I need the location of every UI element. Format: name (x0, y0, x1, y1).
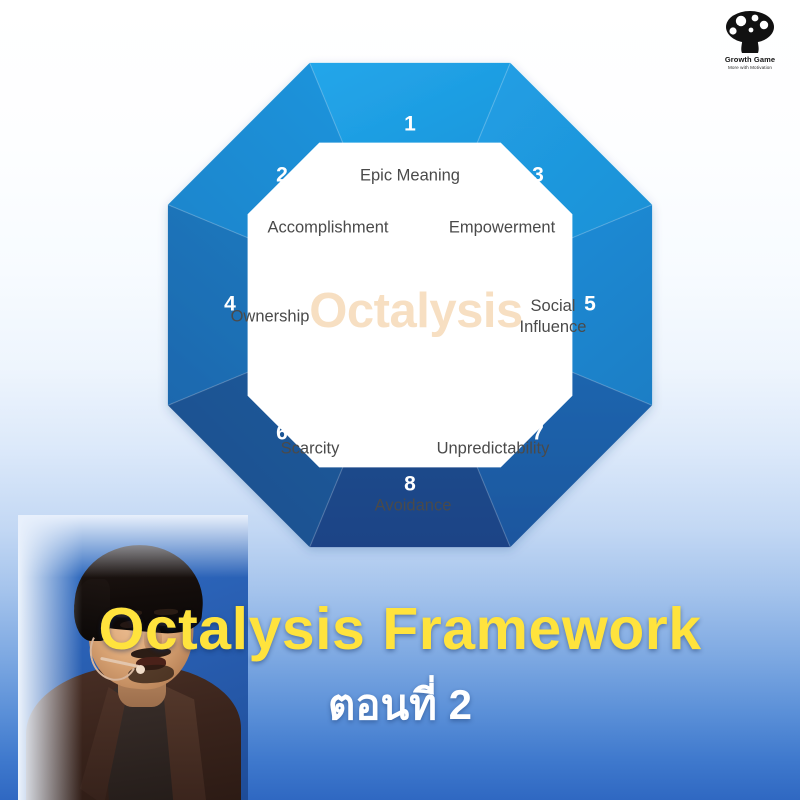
octalysis-label-epic-meaning: Epic Meaning (360, 166, 460, 184)
octalysis-segment-number-8: 8 (404, 473, 416, 496)
octalysis-label-scarcity: Scarcity (281, 439, 340, 457)
mushroom-icon (724, 8, 776, 54)
brand-tagline: More with Motivation (708, 65, 792, 70)
octalysis-segment-number-2: 2 (276, 164, 288, 187)
octalysis-label-accomplishment: Accomplishment (267, 218, 388, 236)
poster-canvas: 1 2 3 4 5 6 7 8 Epic Meaning Accomplishm… (0, 0, 800, 800)
octalysis-label-empowerment: Empowerment (449, 218, 556, 236)
octalysis-segment-number-3: 3 (532, 164, 544, 187)
octalysis-segment-number-5: 5 (584, 293, 596, 316)
octalysis-label-unpredictability: Unpredictability (437, 439, 551, 457)
octalysis-diagram: 1 2 3 4 5 6 7 8 Epic Meaning Accomplishm… (148, 43, 672, 567)
octalysis-center-word: Octalysis (309, 284, 522, 338)
brand-logo[interactable]: Growth Game More with Motivation (708, 8, 792, 70)
octalysis-label-ownership: Ownership (231, 307, 310, 325)
poster-title: Octalysis Framework (0, 595, 800, 663)
poster-subtitle: ตอนที่ 2 (0, 672, 800, 738)
octalysis-label-avoidance: Avoidance (375, 496, 452, 514)
brand-name: Growth Game (708, 55, 792, 64)
octalysis-segment-number-1: 1 (404, 113, 416, 136)
